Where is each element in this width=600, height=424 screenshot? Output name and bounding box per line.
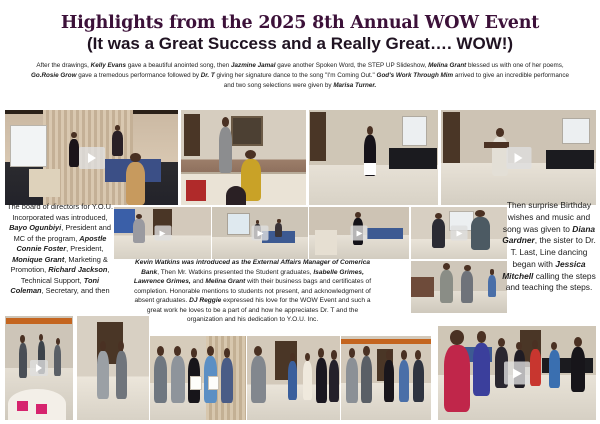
person-figure (473, 343, 490, 396)
person-figure (133, 219, 145, 243)
person-head (477, 331, 487, 343)
person-figure (571, 347, 585, 392)
person-figure (549, 350, 560, 388)
caption-center-kevin-watkins: Kevin Watkins was introduced as the Exte… (130, 258, 375, 325)
person-head (532, 340, 538, 348)
blue-signage (114, 209, 135, 233)
play-button-icon[interactable] (351, 226, 368, 241)
person-figure (126, 162, 145, 205)
photo-two-men-mic (77, 316, 149, 420)
photo-awards-line (247, 336, 340, 420)
person-figure (97, 351, 109, 399)
body-text: gave a beautiful anointed song, then (126, 62, 231, 69)
person-head (386, 350, 391, 359)
person-head (130, 153, 140, 162)
highlighted-name: Jazmine Jamal (231, 62, 275, 69)
caption-left-board-of-directors: The board of directors for Y.O.U. Incorp… (4, 202, 116, 297)
person-figure (444, 345, 469, 413)
skirted-table (315, 230, 337, 255)
person-head (222, 117, 230, 127)
photo-scene (150, 336, 246, 420)
photo-scene (309, 110, 438, 205)
person-head (115, 125, 121, 130)
play-button-icon[interactable] (504, 362, 530, 385)
photo-greeting-couple (411, 261, 507, 313)
person-figure (154, 356, 167, 403)
white-skirt (364, 163, 376, 174)
body-text: , Secretary, and then (42, 286, 110, 295)
photo-walking-hallway[interactable] (114, 207, 211, 259)
skirted-table (29, 169, 60, 198)
body-text: and (191, 278, 206, 285)
body-text: gave another Spoken Word, the STEP UP Sl… (276, 62, 429, 69)
person-figure (116, 351, 127, 399)
orange-wall-stripe (6, 318, 71, 324)
body-text: blessed us with one of her poems, (466, 62, 563, 69)
highlighted-name: Richard Jackson (48, 265, 107, 274)
highlighted-name: God's Work Through Mim (377, 72, 454, 79)
person-head (574, 337, 582, 347)
play-button-icon[interactable] (154, 226, 171, 241)
wall-window (231, 116, 263, 147)
photo-scene (181, 110, 306, 205)
guest-head (226, 186, 246, 205)
person-head (318, 348, 324, 358)
person-figure (316, 358, 327, 403)
person-head (490, 269, 495, 274)
person-head (363, 346, 369, 356)
photo-scene (411, 261, 507, 313)
person-figure (221, 358, 233, 403)
person-figure (530, 349, 541, 387)
person-figure (275, 223, 282, 238)
highlighted-name: Dr. T (201, 72, 215, 79)
person-head (331, 350, 337, 359)
photo-two-guests[interactable] (411, 207, 507, 259)
person-head (118, 341, 124, 352)
play-button-icon[interactable] (252, 226, 269, 241)
highlighted-name: Go.Rosie Grow (31, 72, 76, 79)
page-subtitle: (It was a Great Success and a Really Gre… (0, 35, 600, 54)
play-button-icon[interactable] (451, 226, 468, 241)
person-figure (361, 356, 373, 403)
play-triangle-icon (257, 230, 263, 236)
person-head (349, 348, 355, 358)
body-text: , President, (66, 244, 103, 253)
certificate (208, 376, 220, 390)
person-head (39, 334, 43, 341)
person-head (191, 348, 197, 358)
person-head (450, 330, 464, 345)
person-figure (399, 360, 410, 402)
play-triangle-icon (160, 230, 166, 236)
photo-scene (77, 316, 149, 420)
photo-woman-speaking (181, 110, 306, 205)
intro-paragraph: After the drawings, Kelly Evans gave a b… (30, 61, 570, 90)
person-head (464, 265, 471, 272)
person-figure (219, 127, 233, 173)
person-figure (432, 219, 444, 247)
person-head (496, 128, 505, 137)
highlighted-name: Marisa Turner. (333, 82, 376, 89)
person-figure (413, 360, 424, 402)
projection-screen (227, 213, 250, 235)
person-head (174, 346, 181, 356)
person-figure (112, 131, 122, 156)
photo-line-dancing[interactable] (438, 326, 596, 420)
highlighted-name: Bayo Ogunbiyi (9, 223, 61, 232)
draped-table (389, 148, 437, 169)
person-figure (251, 356, 266, 403)
seated-guests (411, 277, 434, 298)
photo-mingling-round[interactable] (5, 316, 73, 420)
play-triangle-icon (36, 364, 42, 372)
play-triangle-icon (515, 153, 523, 163)
person-figure (384, 360, 394, 402)
highlighted-name: Kelly Evans (91, 62, 126, 69)
person-head (245, 150, 256, 159)
rear-screen (402, 116, 427, 147)
highlighted-name: Melina Grant (205, 278, 245, 285)
person-figure (461, 271, 473, 302)
dj-booth (367, 228, 403, 239)
person-head (56, 338, 60, 345)
person-head (256, 220, 260, 223)
play-button-icon[interactable] (79, 147, 105, 169)
person-head (551, 342, 557, 350)
play-button-icon[interactable] (506, 147, 531, 169)
person-head (498, 338, 505, 347)
body-text: , Then Mr. Watkins presented the Student… (157, 269, 313, 276)
person-figure (171, 356, 184, 403)
photo-family-line (341, 336, 431, 420)
person-figure (329, 360, 339, 402)
play-triangle-icon (88, 153, 96, 163)
person-head (401, 350, 407, 359)
highlighted-name: Monique Grant (12, 255, 64, 264)
photo-projector-screen[interactable] (212, 207, 308, 259)
person-head (367, 126, 373, 135)
person-figure (488, 275, 497, 298)
photo-graduates-group (150, 336, 246, 420)
photo-scene (341, 336, 431, 420)
person-figure (303, 361, 312, 400)
page-header: Highlights from the 2025 8th Annual WOW … (0, 0, 600, 90)
body-text: gave a tremedous performance followed by (76, 72, 200, 79)
pink-favor (36, 404, 47, 413)
photo-singer-floor (309, 110, 438, 205)
person-head (224, 348, 230, 358)
caption-right-birthday-line-dance: Then surprise Birthday wishes and music … (500, 200, 598, 294)
side-door (443, 112, 460, 163)
body-text: After the drawings, (36, 62, 90, 69)
page-title: Highlights from the 2025 8th Annual WOW … (0, 14, 600, 32)
projection-screen (10, 125, 47, 167)
play-triangle-icon (356, 230, 362, 236)
person-head (157, 346, 164, 356)
photo-dj-stage[interactable] (5, 110, 178, 205)
person-head (415, 350, 421, 359)
person-figure (346, 358, 358, 403)
person-head (20, 335, 24, 343)
side-door (310, 112, 325, 161)
person-figure (19, 343, 27, 378)
body-text: The board of directors for Y.O.U. Incorp… (7, 202, 113, 222)
play-triangle-icon (513, 368, 522, 378)
person-head (475, 210, 486, 217)
person-figure (440, 270, 453, 302)
rear-screen (562, 118, 590, 145)
person-head (443, 263, 450, 270)
photo-scene (247, 336, 340, 420)
body-text: giving her signature dance to the song "… (215, 72, 377, 79)
photo-dancer-black[interactable] (309, 207, 409, 259)
red-napkin (186, 180, 206, 201)
orange-wall-stripe (341, 339, 431, 343)
photo-dancer-arms-out[interactable] (441, 110, 596, 205)
draped-table (546, 150, 594, 169)
certificate (190, 376, 202, 390)
person-head (277, 219, 281, 222)
person-head (305, 353, 310, 362)
doorway (184, 114, 200, 156)
person-head (254, 346, 262, 356)
highlighted-name: DJ Reggie (189, 297, 221, 304)
pink-favor (17, 401, 28, 410)
play-triangle-icon (456, 230, 462, 236)
person-figure (288, 361, 297, 400)
play-button-icon[interactable] (30, 360, 48, 376)
person-figure (471, 217, 490, 249)
highlighted-name: Melina Grant (428, 62, 466, 69)
person-figure (54, 345, 61, 376)
